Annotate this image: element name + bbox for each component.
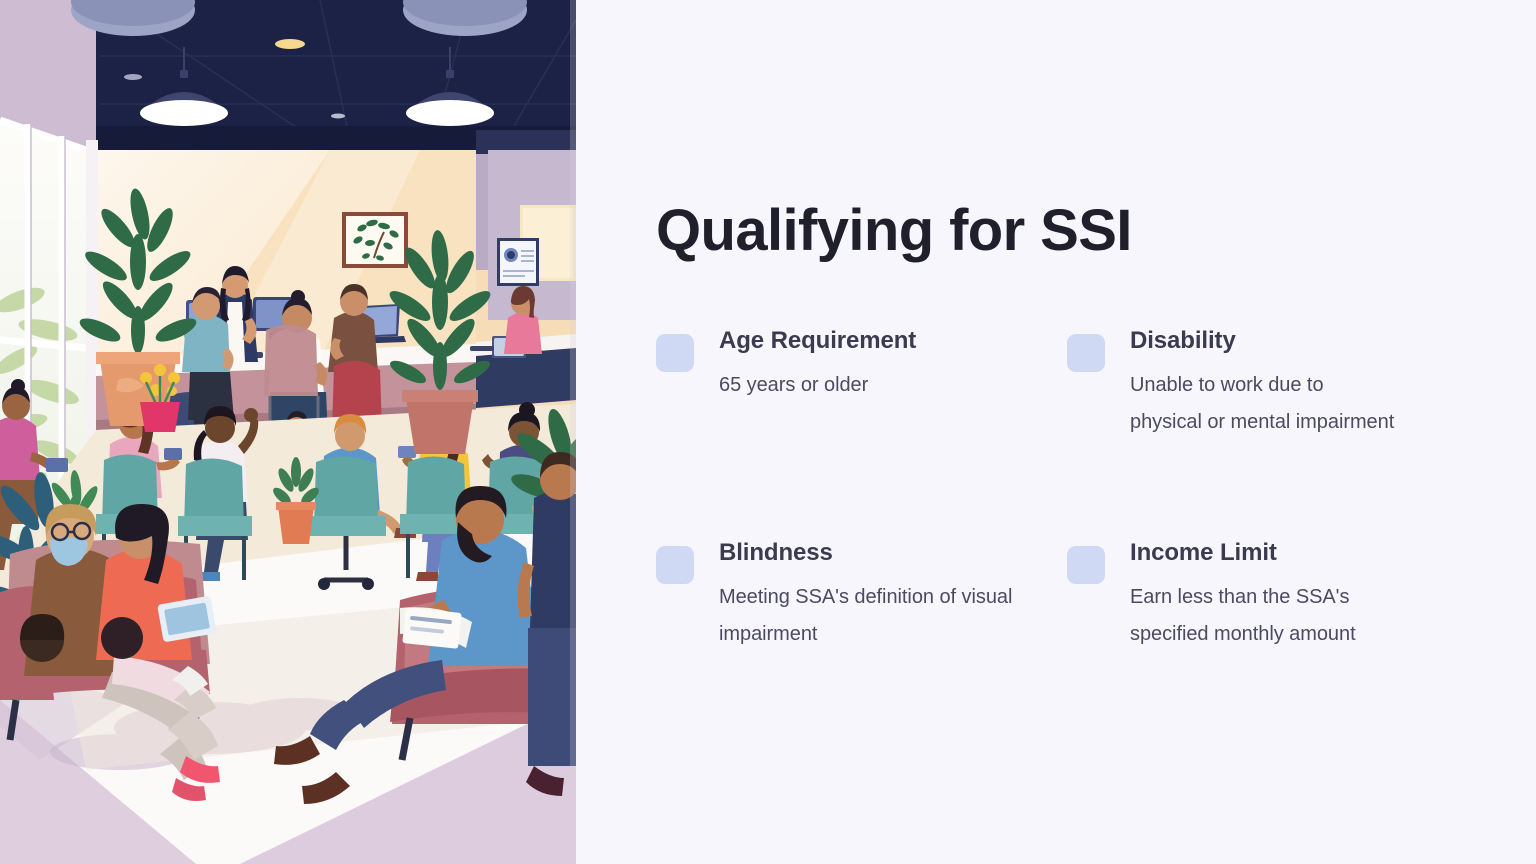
- office-illustration: [0, 0, 576, 864]
- rounded-square-icon: [1067, 334, 1105, 372]
- feature-item-blindness: Blindness Meeting SSA's definition of vi…: [656, 538, 1067, 653]
- feature-item-disability: Disability Unable to work due to physica…: [1067, 326, 1456, 538]
- page-title: Qualifying for SSI: [656, 199, 1132, 263]
- rounded-square-icon: [1067, 546, 1105, 584]
- rounded-square-icon: [656, 334, 694, 372]
- feature-description: Unable to work due to physical or mental…: [1130, 367, 1395, 441]
- feature-heading: Income Limit: [1130, 538, 1438, 568]
- feature-heading: Blindness: [719, 538, 1049, 568]
- feature-item-age-requirement: Age Requirement 65 years or older: [656, 326, 1067, 538]
- feature-item-income-limit: Income Limit Earn less than the SSA's sp…: [1067, 538, 1456, 653]
- feature-description: 65 years or older: [719, 367, 1019, 404]
- rounded-square-icon: [656, 546, 694, 584]
- feature-grid: Age Requirement 65 years or older Disabi…: [656, 326, 1456, 653]
- feature-description: Earn less than the SSA's specified month…: [1130, 579, 1395, 653]
- slide: Qualifying for SSI Age Requirement 65 ye…: [0, 0, 1536, 864]
- feature-heading: Disability: [1130, 326, 1438, 356]
- content-panel: Qualifying for SSI Age Requirement 65 ye…: [576, 0, 1536, 864]
- feature-description: Meeting SSA's definition of visual impai…: [719, 579, 1039, 653]
- illustration-svg: [0, 0, 576, 864]
- feature-heading: Age Requirement: [719, 326, 1049, 356]
